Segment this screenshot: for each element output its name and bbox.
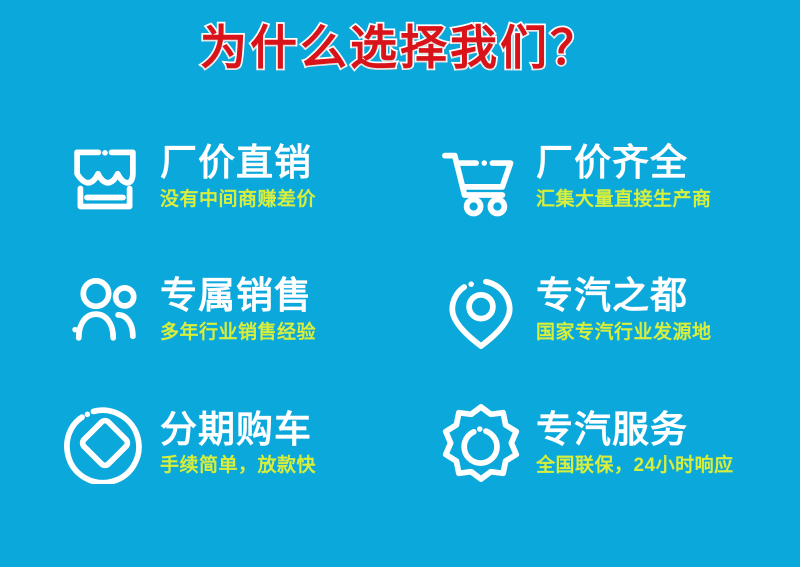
headline-container: 为什么选择我们？ [0,22,800,75]
shopping-cart-icon [438,134,524,220]
two-people-icon [62,267,148,353]
feature-item-truck-capital: 专汽之都 国家专汽行业发源地 [400,243,800,376]
page-title: 为什么选择我们？ [200,22,600,75]
feature-text: 厂价齐全 汇集大量直接生产商 [536,142,712,211]
feature-subtitle: 汇集大量直接生产商 [536,189,712,212]
feature-subtitle: 国家专汽行业发源地 [536,322,712,345]
feature-item-factory-direct: 厂价直销 没有中间商赚差价 [0,110,400,243]
feature-subtitle: 全国联保，24小时响应 [536,455,734,478]
map-pin-icon [438,267,524,353]
feature-subtitle: 手续简单，放款快 [160,455,316,478]
feature-title: 厂价齐全 [536,142,712,185]
diamond-in-circle-icon [62,400,148,486]
feature-title: 分期购车 [160,409,316,452]
feature-grid: 厂价直销 没有中间商赚差价 厂价齐全 汇集大量直接生产商 [0,110,800,510]
feature-title: 专汽服务 [536,409,734,452]
feature-text: 分期购车 手续简单，放款快 [160,409,316,478]
feature-item-service: 专汽服务 全国联保，24小时响应 [400,377,800,510]
feature-title: 专属销售 [160,275,316,318]
promo-poster: 为什么选择我们？ 厂价直销 没有中间商赚差价 [0,0,800,567]
gear-icon [438,400,524,486]
storefront-icon [62,134,148,220]
feature-text: 专汽之都 国家专汽行业发源地 [536,275,712,344]
feature-text: 厂价直销 没有中间商赚差价 [160,142,316,211]
feature-item-dedicated-sales: 专属销售 多年行业销售经验 [0,243,400,376]
feature-text: 专属销售 多年行业销售经验 [160,275,316,344]
feature-subtitle: 没有中间商赚差价 [160,189,316,212]
feature-title: 厂价直销 [160,142,316,185]
feature-subtitle: 多年行业销售经验 [160,322,316,345]
feature-item-installment: 分期购车 手续简单，放款快 [0,377,400,510]
feature-item-full-range: 厂价齐全 汇集大量直接生产商 [400,110,800,243]
feature-text: 专汽服务 全国联保，24小时响应 [536,409,734,478]
feature-title: 专汽之都 [536,275,712,318]
